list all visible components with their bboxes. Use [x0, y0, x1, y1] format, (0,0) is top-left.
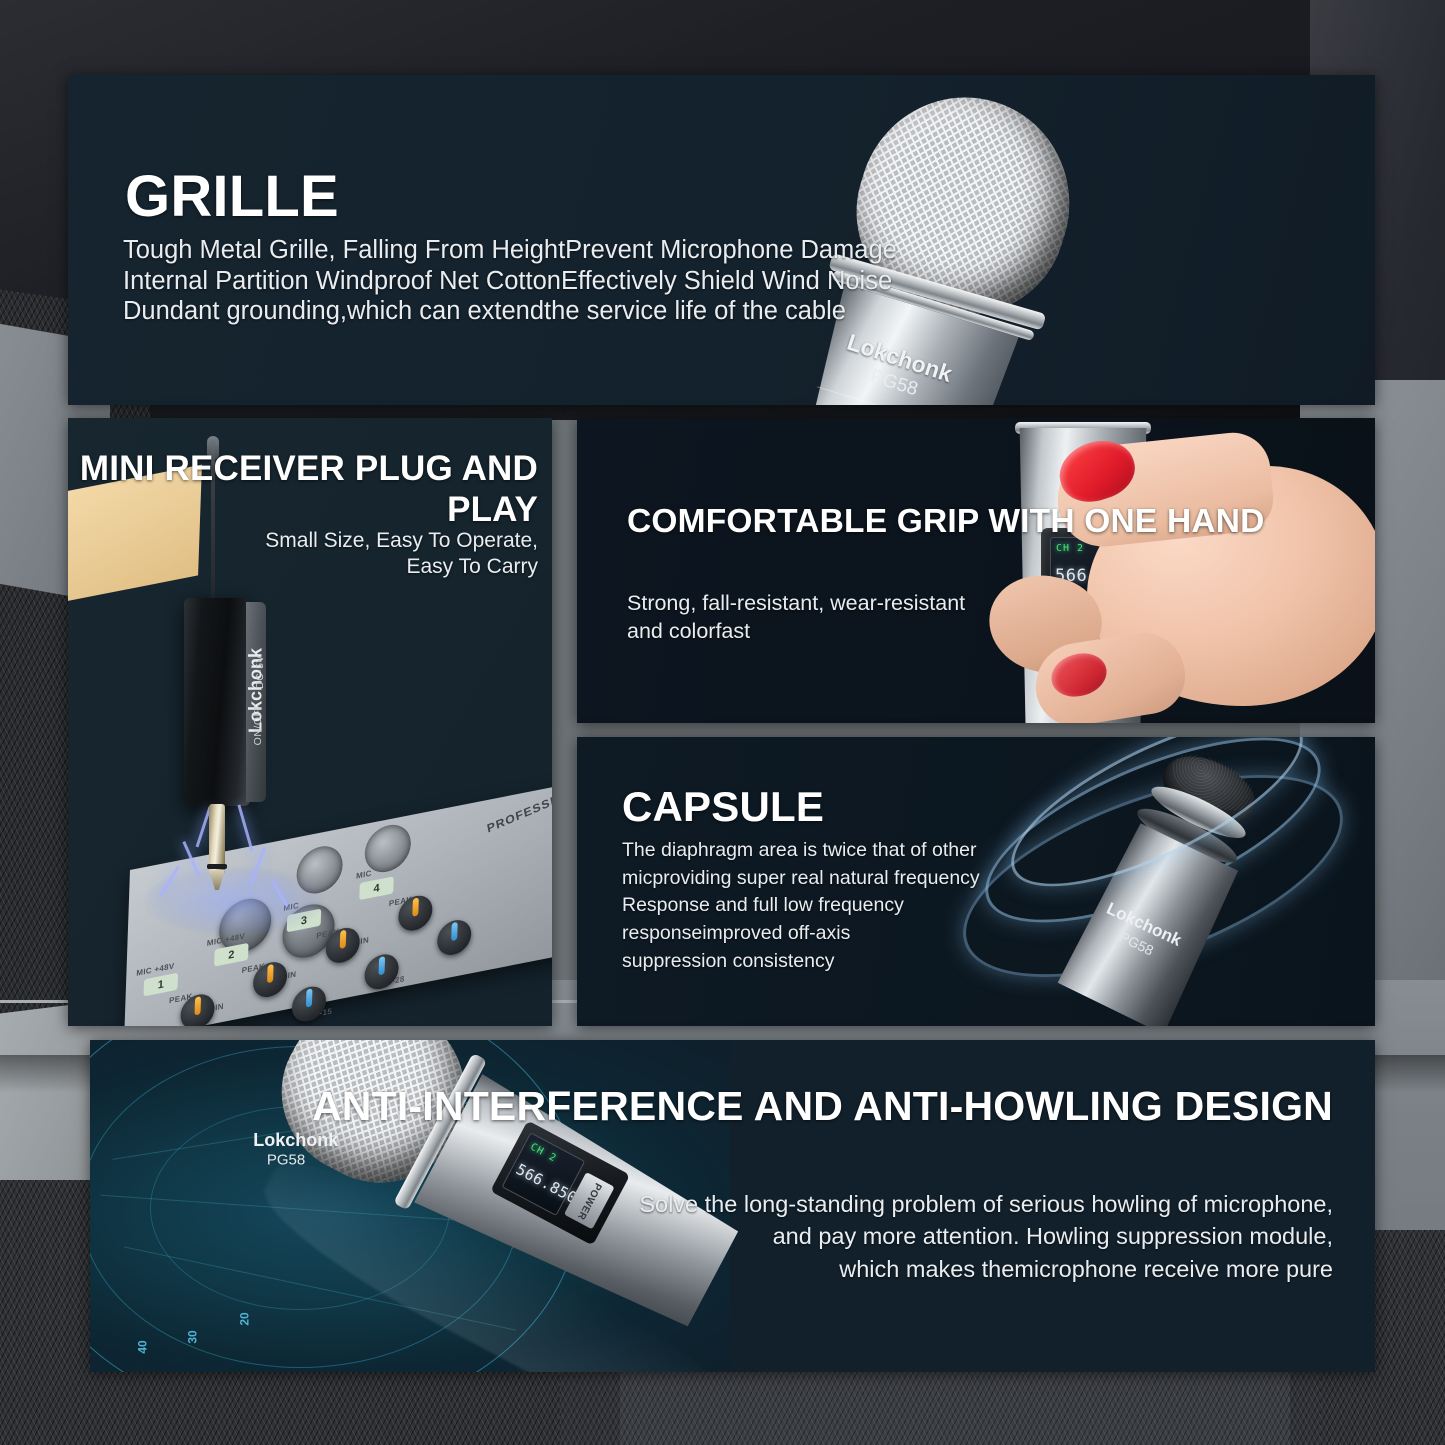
mixer-channel-4[interactable]: 4 — [359, 876, 394, 900]
grille-body: Tough Metal Grille, Falling From HeightP… — [123, 235, 897, 327]
receiver-title: MINI RECEIVER PLUG AND PLAY — [68, 448, 538, 531]
grip-body: Strong, fall-resistant, wear-resistant a… — [627, 590, 965, 645]
mixer-level-knob-2[interactable] — [364, 951, 399, 992]
panel-grille: Lokchonk PG58 GRILLE Tough Metal Grille,… — [68, 75, 1375, 405]
mic-bottom-model-label: PG58 — [267, 1152, 305, 1169]
receiver-body — [184, 598, 250, 806]
capsule-graphic: Lokchonk PG58 — [945, 737, 1375, 1026]
mixer-channel-1[interactable]: 1 — [143, 973, 178, 997]
grille-title: GRILLE — [125, 163, 339, 230]
hand-graphic — [997, 426, 1375, 723]
mixer-gain-scale-2: -28 — [392, 974, 405, 986]
mixer-level-knob-3[interactable] — [437, 917, 472, 958]
radar-tick-40: 40 — [136, 1340, 150, 1353]
receiver-onoff-label: ON/OFF — [252, 684, 264, 764]
lightning-bolt-6 — [271, 879, 289, 906]
mic-bottom-brand-label: Lokchonk — [253, 1130, 338, 1151]
anti-body: Solve the long-standing problem of serio… — [639, 1188, 1333, 1285]
capsule-title: CAPSULE — [622, 783, 824, 831]
receiver-body: Small Size, Easy To Operate, Easy To Car… — [265, 528, 538, 580]
panel-comfortable-grip: CH 2 566.850 POWER COMFORTABLE GRIP WITH… — [577, 418, 1375, 723]
lightning-effect — [128, 798, 358, 968]
panel-mini-receiver: Lokchonk DC-5V ON/OFF 1 2 3 4 MIC +48V M… — [68, 418, 552, 1026]
anti-title: ANTI-INTERFERENCE AND ANTI-HOWLING DESIG… — [312, 1082, 1333, 1131]
lightning-bolt-5 — [249, 847, 267, 885]
mixer-mic-tag-4: MIC — [356, 869, 372, 881]
mixer-gain-scale-1: -15 — [319, 1006, 332, 1018]
background-texture-bottom-center — [560, 1370, 1320, 1445]
radar-tick-30: 30 — [186, 1330, 200, 1343]
mixer-level-knob-1[interactable] — [291, 984, 326, 1025]
mixer-brand-text: PROFESSIONAL — [486, 778, 552, 836]
lightning-bolt-3 — [159, 866, 180, 896]
panel-anti-interference: 20 30 40 Lokchonk PG58 CH 2 566.850 POWE… — [90, 1040, 1375, 1372]
grip-title: COMFORTABLE GRIP WITH ONE HAND — [627, 502, 1265, 542]
radar-tick-20: 20 — [238, 1312, 252, 1325]
panel-capsule: Lokchonk PG58 CAPSULE The diaphragm area… — [577, 737, 1375, 1026]
lightning-bolt-4 — [237, 805, 253, 852]
receiver-jack-band — [207, 864, 227, 869]
power-button-bottom-label: POWER — [575, 1180, 604, 1221]
capsule-body-text: The diaphragm area is twice that of othe… — [622, 837, 980, 975]
lcd-bottom-channel-text: CH 2 — [528, 1142, 558, 1165]
